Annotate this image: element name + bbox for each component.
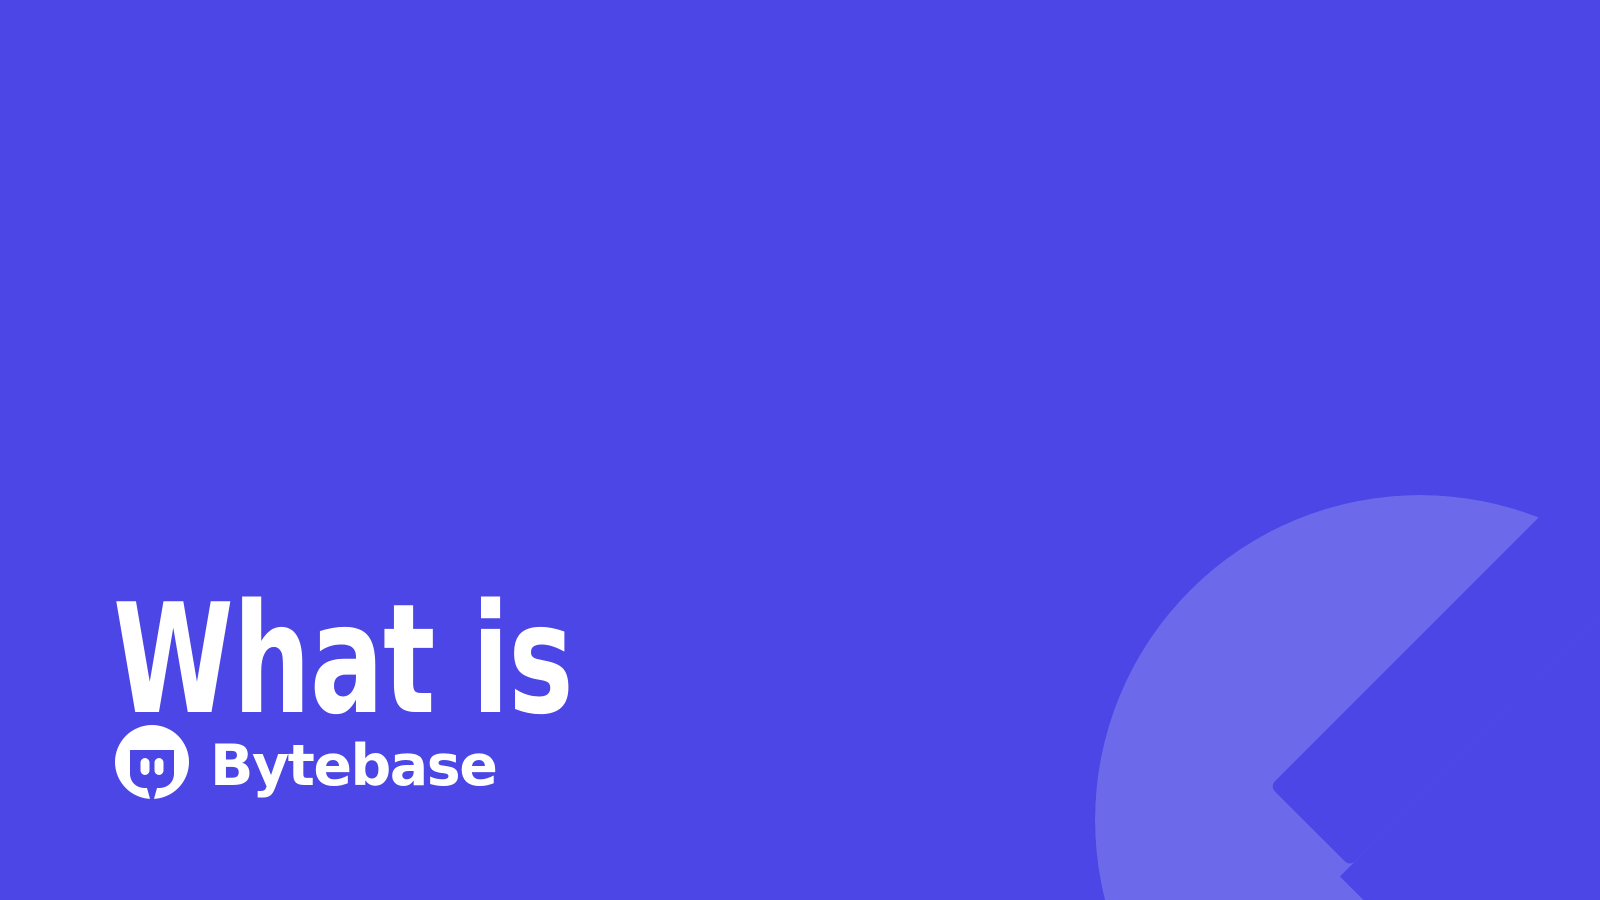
bytebase-logo-mark-icon: [113, 724, 191, 806]
share-card-canvas: What is Change Advisory Board (CAB)? By: [0, 0, 1600, 900]
brand-lockup: Bytebase: [113, 724, 496, 806]
bytebase-wordmark: Bytebase: [210, 738, 496, 795]
